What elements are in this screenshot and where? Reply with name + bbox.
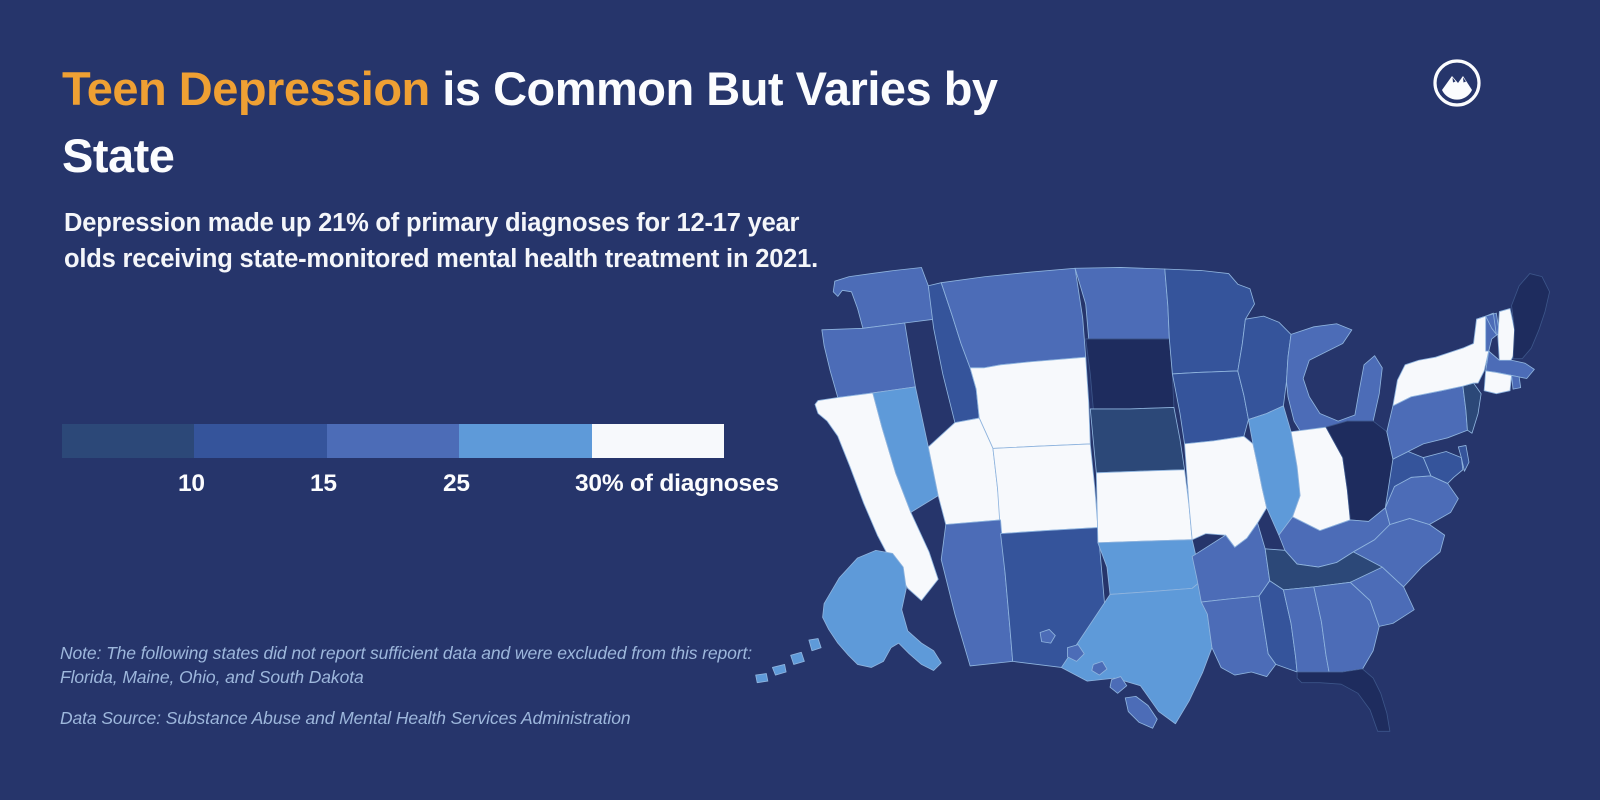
state-KS[interactable] (1096, 470, 1192, 543)
data-source: Data Source: Substance Abuse and Mental … (60, 708, 820, 729)
state-ND[interactable] (1075, 267, 1169, 338)
legend-tick-labels: 10 15 25 30% of diagnoses (62, 470, 724, 504)
subtitle: Depression made up 21% of primary diagno… (64, 205, 824, 277)
legend-label-15: 15 (310, 470, 337, 498)
state-WY[interactable] (970, 357, 1090, 448)
state-WA[interactable] (833, 267, 934, 328)
states-layer (756, 267, 1550, 731)
state-ME excluded[interactable] (1512, 274, 1550, 359)
map-svg (742, 198, 1472, 778)
legend-swatch-0 (62, 424, 194, 458)
state-CO[interactable] (993, 444, 1098, 534)
state-FL excluded[interactable] (1297, 669, 1390, 731)
us-choropleth-map (742, 198, 1472, 778)
state-RI[interactable] (1512, 375, 1521, 389)
exclusion-note: Note: The following states did not repor… (60, 642, 760, 690)
legend-label-10: 10 (178, 470, 205, 498)
legend-swatch-2 (327, 424, 459, 458)
page-title-accent: Teen Depression (62, 62, 430, 115)
state-OR[interactable] (822, 323, 916, 398)
state-CT[interactable] (1484, 371, 1511, 394)
legend-swatch-3 (459, 424, 591, 458)
mountain-circle-icon (1432, 58, 1482, 108)
infographic-root: { "title": { "accent_text": "Teen Depres… (0, 0, 1600, 800)
state-WI[interactable] (1238, 316, 1291, 419)
legend-color-bar (62, 424, 724, 458)
state-OK[interactable] (1098, 540, 1201, 595)
state-NE[interactable] (1090, 407, 1184, 472)
state-SD excluded[interactable] (1086, 339, 1174, 409)
legend: 10 15 25 30% of diagnoses (62, 424, 724, 504)
page-title: Teen Depression is Common But Varies by … (62, 56, 1062, 189)
state-IA[interactable] (1172, 371, 1248, 444)
brand-logo (1432, 58, 1482, 108)
legend-swatch-4 (592, 424, 724, 458)
legend-label-25: 25 (443, 470, 470, 498)
legend-swatch-1 (194, 424, 326, 458)
